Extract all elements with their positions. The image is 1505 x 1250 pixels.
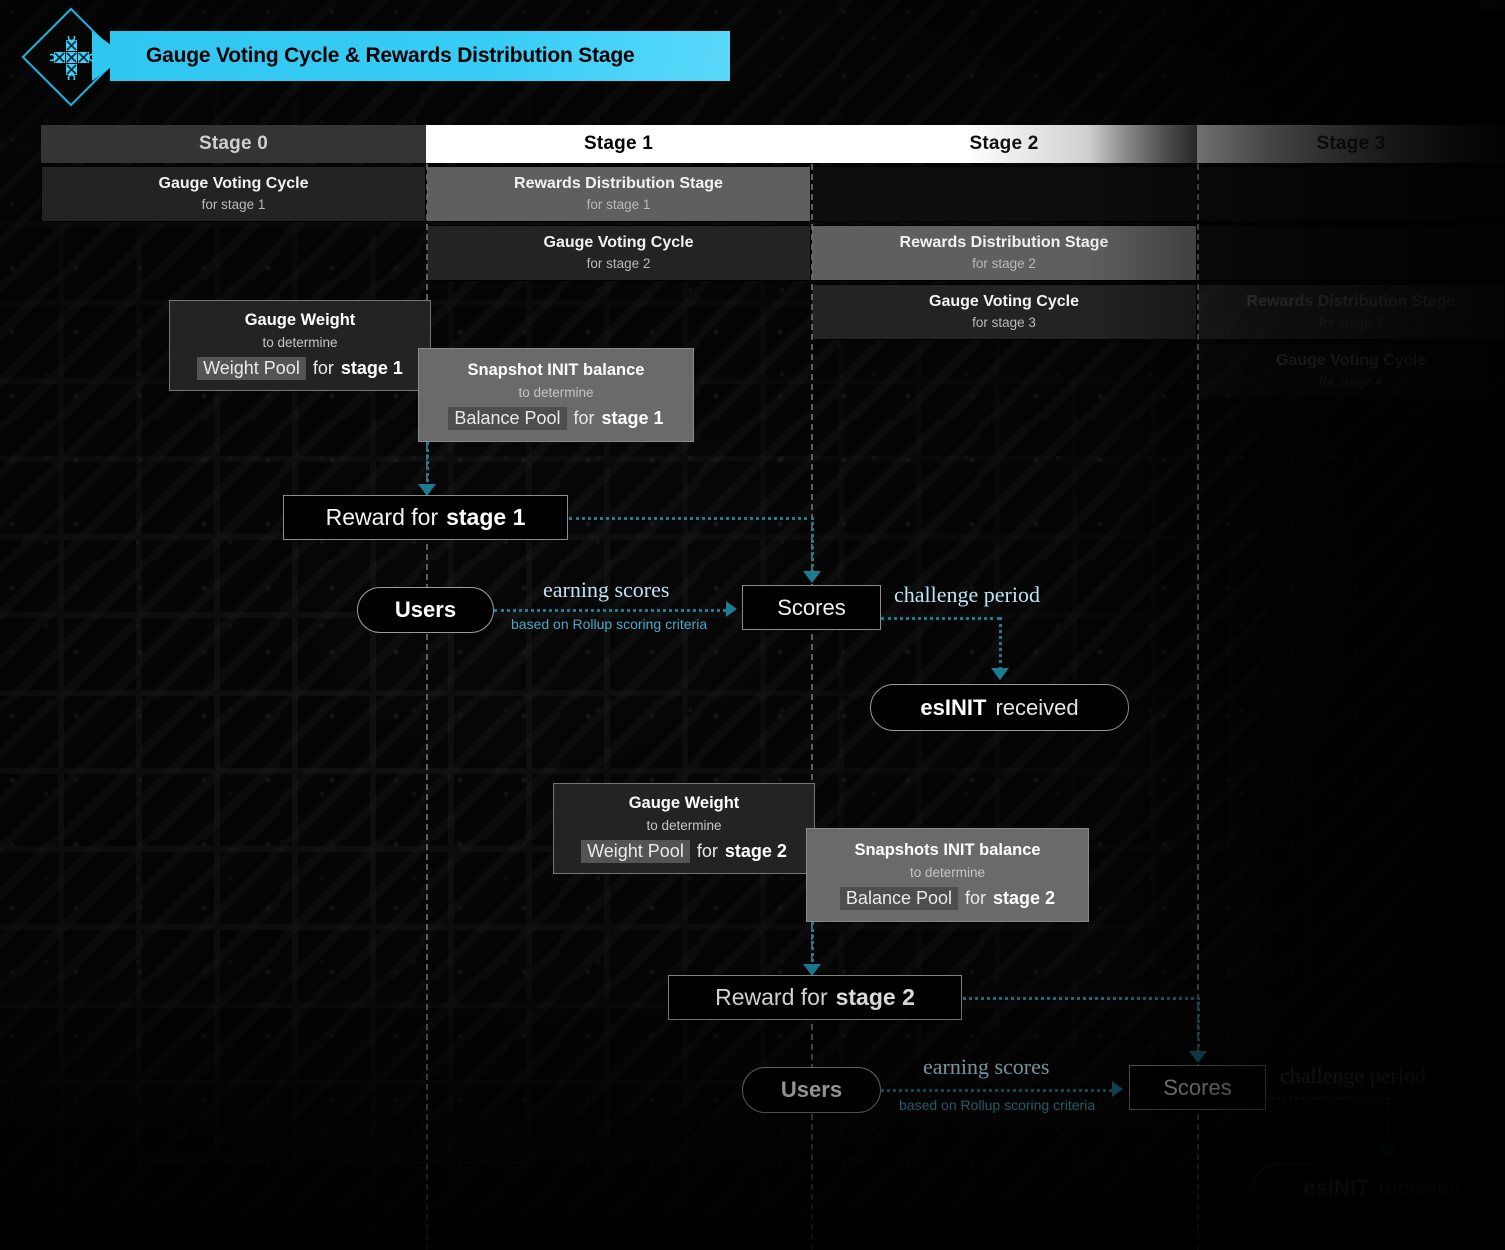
connector-scores-to-esinit-1-h: [881, 617, 1000, 620]
users-label: Users: [781, 1077, 842, 1103]
cycle-cell-gauge-stage3: Gauge Voting Cycle for stage 3: [811, 284, 1197, 340]
gauge-weight-pool-row: Weight Pool for stage 2: [581, 840, 787, 863]
banner-bar: Gauge Voting Cycle & Rewards Distributio…: [110, 31, 730, 81]
balance-pool-for: for: [574, 408, 595, 429]
reward-box-stage1: Reward for stage 1: [283, 495, 568, 540]
users-label: Users: [395, 597, 456, 623]
page-title: Gauge Voting Cycle & Rewards Distributio…: [110, 44, 634, 68]
gauge-weight-sub: to determine: [262, 335, 337, 350]
arrowhead-scores-to-esinit-2: [1379, 1146, 1397, 1158]
arrowhead-reward-to-scores-1: [803, 571, 821, 583]
snapshot-balance-box-stage2: Snapshots INIT balance to determine Bala…: [806, 828, 1089, 922]
reward-prefix: Reward for: [715, 984, 827, 1011]
stage-header-2-label: Stage 2: [970, 133, 1039, 155]
snapshot-title: Snapshot INIT balance: [468, 361, 645, 380]
esinit-normal: received: [995, 695, 1078, 721]
earning-scores-sub-2: based on Rollup scoring criteria: [899, 1097, 1095, 1113]
cycle-cell-sub: for stage 3: [972, 314, 1036, 332]
cycle-cell-title: Gauge Voting Cycle: [929, 292, 1079, 312]
weight-pool-stage: stage 2: [725, 841, 787, 862]
earning-scores-sub-1: based on Rollup scoring criteria: [511, 616, 707, 632]
cycle-cell-sub: for stage 1: [587, 196, 651, 214]
gauge-weight-box-stage2: Gauge Weight to determine Weight Pool fo…: [553, 783, 815, 874]
snapshot-title: Snapshots INIT balance: [854, 841, 1040, 860]
esinit-bold: esINIT: [1303, 1175, 1369, 1201]
reward-stage: stage 1: [446, 504, 525, 531]
esinit-normal: received: [1378, 1175, 1461, 1201]
balance-pool-chip: Balance Pool: [448, 407, 566, 430]
snapshot-balance-box-stage1: Snapshot INIT balance to determine Balan…: [418, 348, 694, 442]
stage-header-3-label: Stage 3: [1317, 133, 1386, 155]
stage-header-1: Stage 1: [426, 125, 811, 163]
scores-box-stage1: Scores: [742, 585, 881, 630]
esinit-bold: esINIT: [920, 695, 986, 721]
connector-scores-to-esinit-1-v: [999, 617, 1002, 670]
cycle-cell-title: Rewards Distribution Stage: [514, 174, 723, 194]
scores-label: Scores: [1163, 1075, 1231, 1101]
snapshot-sub: to determine: [518, 385, 593, 400]
cycle-cell-sub: for stage 4: [1319, 373, 1383, 391]
snapshot-sub: to determine: [910, 865, 985, 880]
cycle-cell-title: Gauge Voting Cycle: [1276, 351, 1426, 371]
cycle-cell-rewards-stage2: Rewards Distribution Stage for stage 2: [811, 225, 1197, 281]
cycle-cell-empty-s2-r0: [811, 166, 1197, 222]
esinit-received-pill-stage2[interactable]: esINIT received: [1253, 1164, 1505, 1211]
top-right-strip: [1480, 0, 1505, 10]
weight-pool-chip: Weight Pool: [581, 840, 690, 863]
reward-stage: stage 2: [836, 984, 915, 1011]
cycle-cell-sub: for stage 3: [1319, 314, 1383, 332]
earning-scores-label-2: earning scores: [923, 1054, 1049, 1080]
arrowhead-users-to-scores-1: [726, 601, 737, 617]
stage-header-1-label: Stage 1: [584, 133, 653, 155]
cycle-cell-title: Gauge Voting Cycle: [544, 233, 694, 253]
cycle-cell-gauge-stage4: Gauge Voting Cycle for stage 4: [1197, 343, 1505, 399]
earning-scores-label-1: earning scores: [543, 577, 669, 603]
cycle-cell-sub: for stage 2: [587, 255, 651, 273]
connector-gauge-to-reward-1: [426, 442, 429, 488]
cycle-cell-empty-s3-r0: [1197, 166, 1505, 222]
cycle-cell-empty-s3-r1: [1197, 225, 1505, 281]
diamond-node-icon: [50, 36, 94, 80]
connector-reward-to-scores-1-h: [569, 517, 814, 520]
stage-header-3: Stage 3: [1197, 125, 1505, 163]
weight-pool-for: for: [697, 841, 718, 862]
connector-reward-to-scores-2-h: [963, 997, 1200, 1000]
connector-reward-to-scores-1-v: [811, 517, 814, 573]
snapshot-pool-row: Balance Pool for stage 2: [840, 887, 1055, 910]
balance-pool-chip: Balance Pool: [840, 887, 958, 910]
balance-pool-stage: stage 1: [602, 408, 664, 429]
challenge-period-label-1: challenge period: [894, 582, 1040, 608]
connector-gauge-to-reward-2: [811, 922, 814, 968]
cycle-cell-sub: for stage 2: [972, 255, 1036, 273]
cycle-cell-title: Rewards Distribution Stage: [1247, 292, 1456, 312]
cycle-cell-title: Gauge Voting Cycle: [159, 174, 309, 194]
diagram-canvas: Gauge Voting Cycle & Rewards Distributio…: [0, 0, 1505, 1250]
arrowhead-scores-to-esinit-1: [991, 668, 1009, 680]
gauge-weight-box-stage1: Gauge Weight to determine Weight Pool fo…: [169, 300, 431, 391]
balance-pool-stage: stage 2: [993, 888, 1055, 909]
weight-pool-chip: Weight Pool: [197, 357, 306, 380]
gauge-weight-sub: to determine: [646, 818, 721, 833]
cycle-cell-rewards-stage1: Rewards Distribution Stage for stage 1: [426, 166, 811, 222]
arrowhead-users-to-scores-2: [1112, 1081, 1123, 1097]
scores-label: Scores: [777, 595, 845, 621]
snapshot-pool-row: Balance Pool for stage 1: [448, 407, 663, 430]
stage-header-0: Stage 0: [41, 125, 426, 163]
cycle-cell-sub: for stage 1: [202, 196, 266, 214]
users-pill-stage1[interactable]: Users: [357, 587, 494, 633]
scores-box-stage2: Scores: [1129, 1065, 1266, 1110]
connector-scores-to-esinit-2-h: [1266, 1097, 1388, 1100]
reward-prefix: Reward for: [326, 504, 438, 531]
cycle-cell-rewards-stage3: Rewards Distribution Stage for stage 3: [1197, 284, 1505, 340]
gauge-weight-title: Gauge Weight: [629, 794, 740, 813]
cycle-cell-gauge-stage1: Gauge Voting Cycle for stage 1: [41, 166, 426, 222]
stage-header-2: Stage 2: [811, 125, 1197, 163]
arrowhead-reward-to-scores-2: [1189, 1051, 1207, 1063]
connector-users-to-scores-1: [494, 609, 726, 612]
connector-users-to-scores-2: [881, 1089, 1112, 1092]
weight-pool-stage: stage 1: [341, 358, 403, 379]
esinit-received-pill-stage1[interactable]: esINIT received: [870, 684, 1129, 731]
cycle-cell-title: Rewards Distribution Stage: [900, 233, 1109, 253]
stage-header-0-label: Stage 0: [199, 133, 268, 155]
users-pill-stage2[interactable]: Users: [742, 1067, 881, 1113]
connector-reward-to-scores-2-v: [1197, 997, 1200, 1053]
balance-pool-for: for: [965, 888, 986, 909]
connector-scores-to-esinit-2-v: [1387, 1097, 1390, 1148]
cycle-cell-gauge-stage2: Gauge Voting Cycle for stage 2: [426, 225, 811, 281]
weight-pool-for: for: [313, 358, 334, 379]
challenge-period-label-2: challenge period: [1280, 1063, 1426, 1089]
reward-box-stage2: Reward for stage 2: [668, 975, 962, 1020]
gauge-weight-title: Gauge Weight: [245, 311, 356, 330]
gauge-weight-pool-row: Weight Pool for stage 1: [197, 357, 403, 380]
